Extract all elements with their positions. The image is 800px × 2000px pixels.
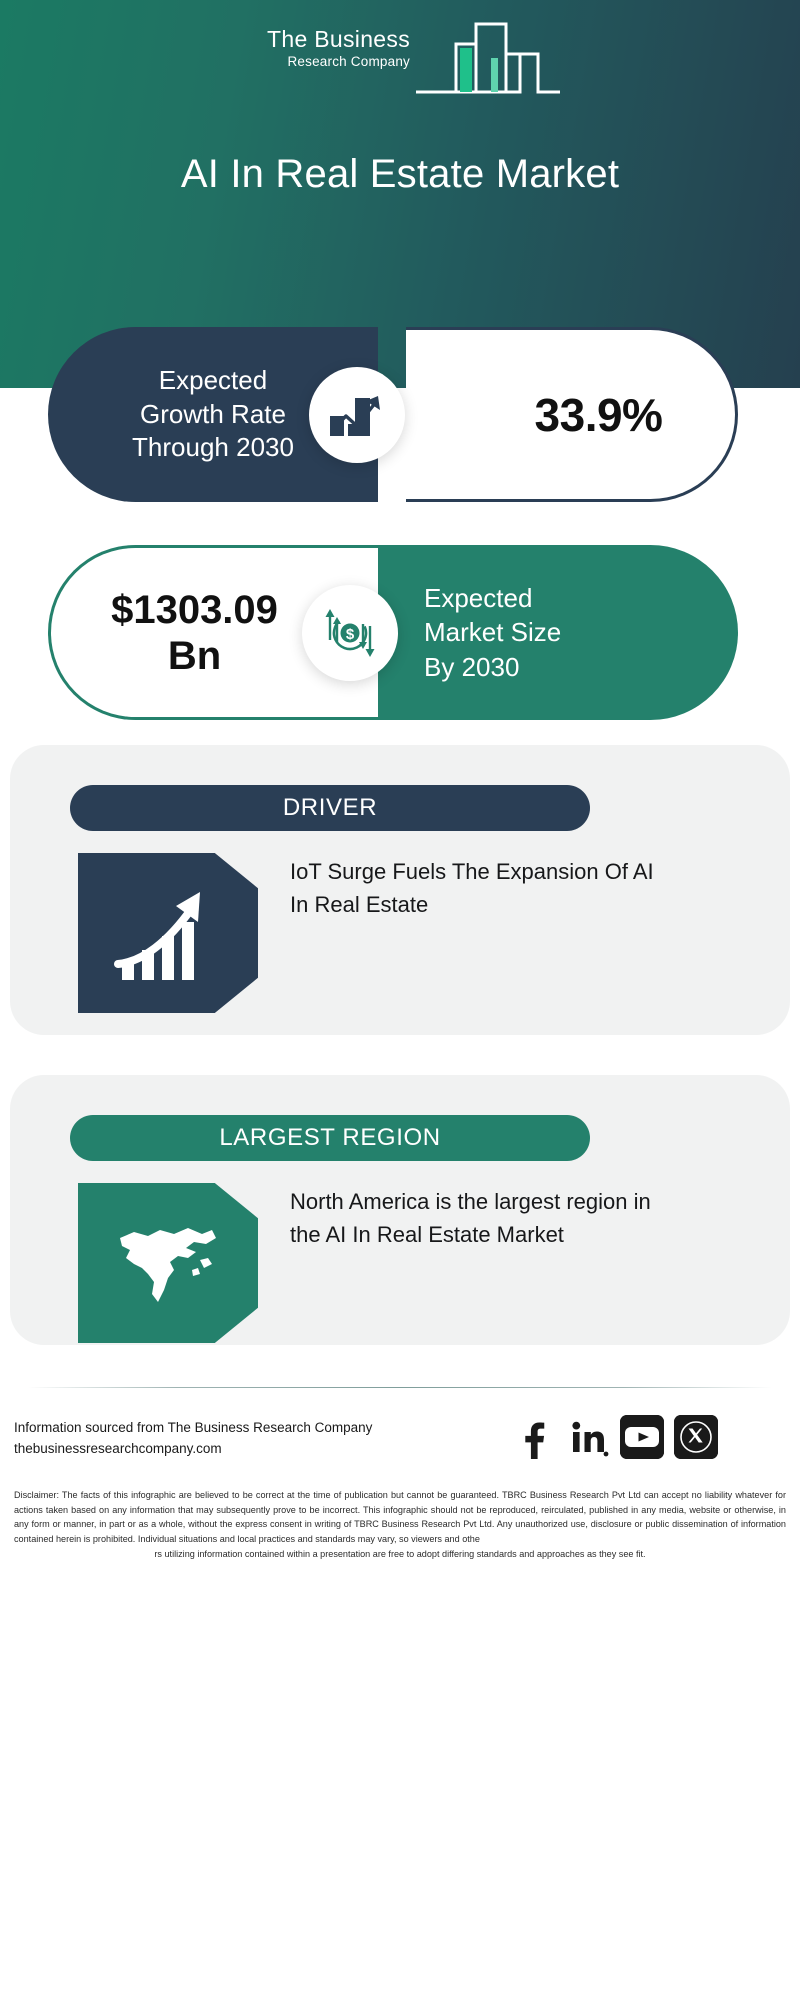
growth-rate-value: 33.9% — [479, 388, 663, 442]
stat-card-growth-value-block: 33.9% — [406, 327, 738, 502]
largest-region-pill: LARGEST REGION — [70, 1115, 590, 1161]
driver-panel: DRIVER IoT Surge Fuels The Expansion Of … — [10, 745, 790, 1035]
label-line-3: Through 2030 — [132, 432, 294, 462]
footer-source-line-1: Information sourced from The Business Re… — [14, 1418, 434, 1439]
largest-region-icon-tile — [78, 1183, 258, 1343]
north-america-map-icon — [78, 1183, 258, 1343]
label-line-2: Market Size — [424, 617, 561, 647]
bar-chart-growth-icon — [309, 367, 405, 463]
market-size-value-line-1: $1303.09 — [111, 588, 278, 632]
social-links — [512, 1415, 768, 1459]
label-line-2: Growth Rate — [140, 399, 286, 429]
youtube-icon[interactable] — [620, 1415, 664, 1459]
stat-card-growth-rate: Expected Growth Rate Through 2030 33.9% — [48, 327, 738, 502]
label-line-1: Expected — [424, 583, 532, 613]
disclaimer-body: Disclaimer: The facts of this infographi… — [14, 1490, 786, 1544]
footer-website-link[interactable]: thebusinessresearchcompany.com — [14, 1439, 434, 1460]
driver-text: IoT Surge Fuels The Expansion Of AI In R… — [290, 855, 660, 921]
facebook-icon[interactable] — [512, 1415, 556, 1459]
stat-card-market-size: $1303.09 Bn Expected Market Size By 2030… — [48, 545, 738, 720]
driver-icon-tile — [78, 853, 258, 1013]
disclaimer-text: Disclaimer: The facts of this infographi… — [14, 1488, 786, 1562]
page-title: AI In Real Estate Market — [0, 152, 800, 197]
dollar-circular-arrows-icon: $ — [302, 585, 398, 681]
largest-region-text: North America is the largest region in t… — [290, 1185, 660, 1251]
rising-bar-chart-arrow-icon — [78, 853, 258, 1013]
footer-divider — [28, 1387, 772, 1388]
stat-card-market-label: Expected Market Size By 2030 — [424, 581, 561, 684]
logo-line-2: Research Company — [220, 55, 410, 69]
market-size-value: $1303.09 Bn — [111, 587, 318, 679]
label-line-1: Expected — [159, 365, 267, 395]
label-line-3: By 2030 — [424, 652, 519, 682]
x-twitter-icon[interactable] — [674, 1415, 718, 1459]
stat-card-growth-label: Expected Growth Rate Through 2030 — [132, 364, 294, 465]
logo-line-1: The Business — [220, 28, 410, 51]
linkedin-icon[interactable] — [566, 1415, 610, 1459]
largest-region-panel: LARGEST REGION North America is the larg… — [10, 1075, 790, 1345]
infographic-page: The Business Research Company AI In Real… — [0, 0, 800, 2000]
footer-source: Information sourced from The Business Re… — [14, 1418, 434, 1460]
driver-pill: DRIVER — [70, 785, 590, 831]
disclaimer-last-line: rs utilizing information contained withi… — [14, 1547, 786, 1562]
bar-chart-logo-icon — [410, 18, 580, 98]
company-logo: The Business Research Company — [220, 18, 580, 98]
market-size-value-line-2: Bn — [168, 634, 221, 678]
largest-region-pill-label: LARGEST REGION — [219, 1124, 440, 1152]
driver-pill-label: DRIVER — [283, 794, 377, 822]
stat-card-market-label-block: Expected Market Size By 2030 — [378, 545, 738, 720]
logo-wordmark: The Business Research Company — [220, 28, 410, 69]
svg-text:$: $ — [346, 626, 355, 643]
